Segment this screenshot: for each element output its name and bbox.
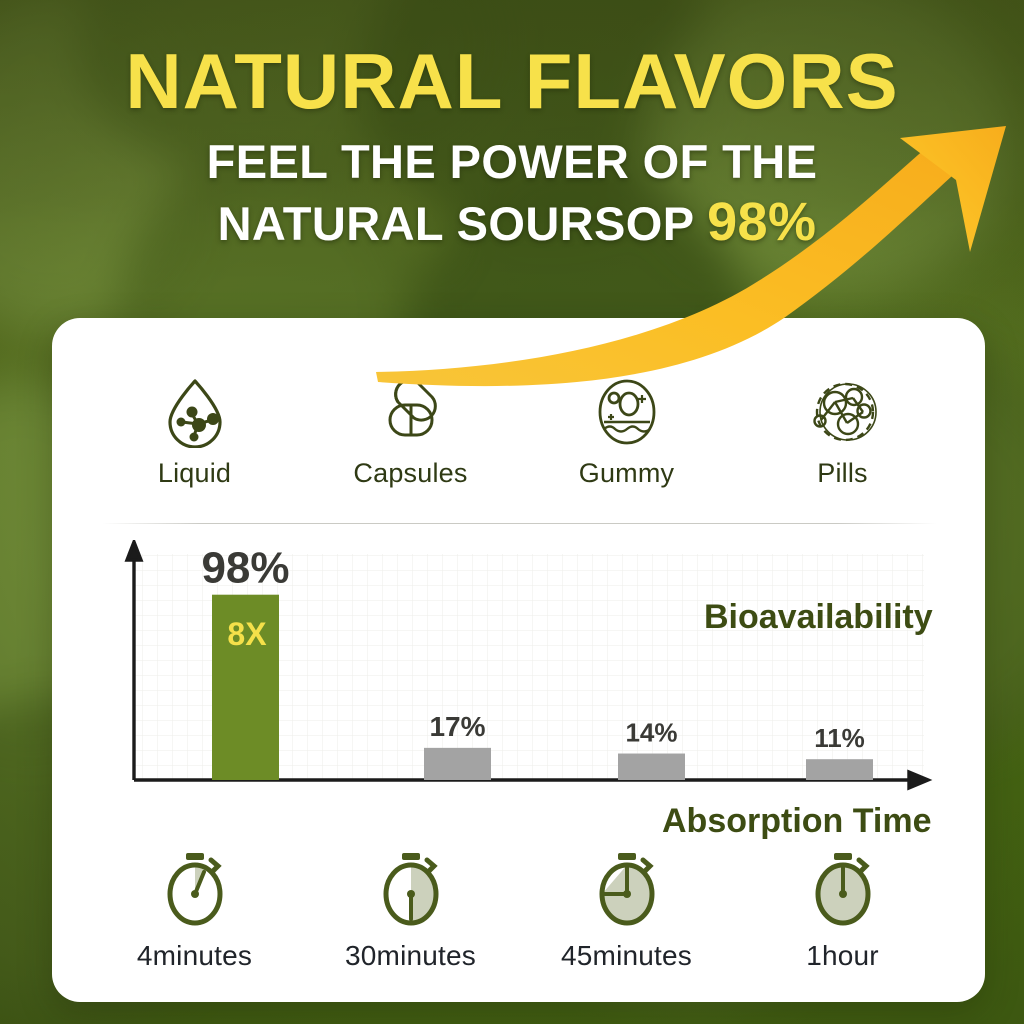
- form-item-gummy[interactable]: Gummy: [524, 376, 729, 489]
- gummy-icon: [524, 376, 729, 448]
- chart-series-label-bioavailability: Bioavailability: [704, 598, 933, 637]
- subtitle-line-2-text: NATURAL SOURSOP: [218, 197, 694, 250]
- form-label-capsules: Capsules: [308, 458, 513, 489]
- timer-label-1hour: 1hour: [740, 940, 945, 972]
- infographic-root: NATURAL FLAVORS FEEL THE POWER OF THE NA…: [0, 0, 1024, 1024]
- page-title: NATURAL FLAVORS: [0, 0, 1024, 119]
- pills-molecule-icon: [740, 376, 945, 448]
- form-item-liquid[interactable]: Liquid: [92, 376, 297, 489]
- page-subtitle: FEEL THE POWER OF THE NATURAL SOURSOP 98…: [0, 119, 1024, 256]
- headline-block: NATURAL FLAVORS FEEL THE POWER OF THE NA…: [0, 0, 1024, 256]
- chart-axis-label-absorption-time: Absorption Time: [662, 802, 932, 841]
- absorption-timers-row: 4minutes 30minutes: [92, 848, 945, 972]
- timer-item-45minutes[interactable]: 45minutes: [524, 848, 729, 972]
- form-label-gummy: Gummy: [524, 458, 729, 489]
- subtitle-highlight-percent: 98%: [707, 192, 816, 252]
- bar-gummy: [618, 754, 685, 780]
- bar-pills: [806, 759, 873, 780]
- bar-value-label-pills: 11%: [814, 723, 865, 753]
- timer-label-45minutes: 45minutes: [524, 940, 729, 972]
- form-label-pills: Pills: [740, 458, 945, 489]
- capsules-icon: [308, 376, 513, 448]
- stopwatch-icon: [524, 848, 729, 934]
- bar-value-label-liquid: 98%: [201, 544, 289, 593]
- stopwatch-icon: [740, 848, 945, 934]
- bar-value-label-capsules: 17%: [429, 711, 485, 742]
- bar-capsules: [424, 748, 491, 780]
- timer-item-1hour[interactable]: 1hour: [740, 848, 945, 972]
- delivery-forms-row: Liquid Capsules: [92, 376, 945, 489]
- timer-label-30minutes: 30minutes: [308, 940, 513, 972]
- bioavailability-chart: 98% 17% 14% 11% 8X Bioavailability Absor…: [112, 540, 942, 850]
- timer-label-4minutes: 4minutes: [92, 940, 297, 972]
- section-divider: [102, 523, 937, 524]
- liquid-droplet-molecule-icon: [92, 376, 297, 448]
- subtitle-line-1: FEEL THE POWER OF THE: [0, 133, 1024, 190]
- timer-item-4minutes[interactable]: 4minutes: [92, 848, 297, 972]
- subtitle-line-2: NATURAL SOURSOP 98%: [0, 190, 1024, 256]
- form-label-liquid: Liquid: [92, 458, 297, 489]
- form-item-capsules[interactable]: Capsules: [308, 376, 513, 489]
- bar-inner-label-liquid: 8X: [227, 616, 267, 652]
- timer-item-30minutes[interactable]: 30minutes: [308, 848, 513, 972]
- content-card: Liquid Capsules: [52, 318, 985, 1002]
- form-item-pills[interactable]: Pills: [740, 376, 945, 489]
- bar-value-label-gummy: 14%: [625, 718, 677, 748]
- stopwatch-icon: [308, 848, 513, 934]
- stopwatch-icon: [92, 848, 297, 934]
